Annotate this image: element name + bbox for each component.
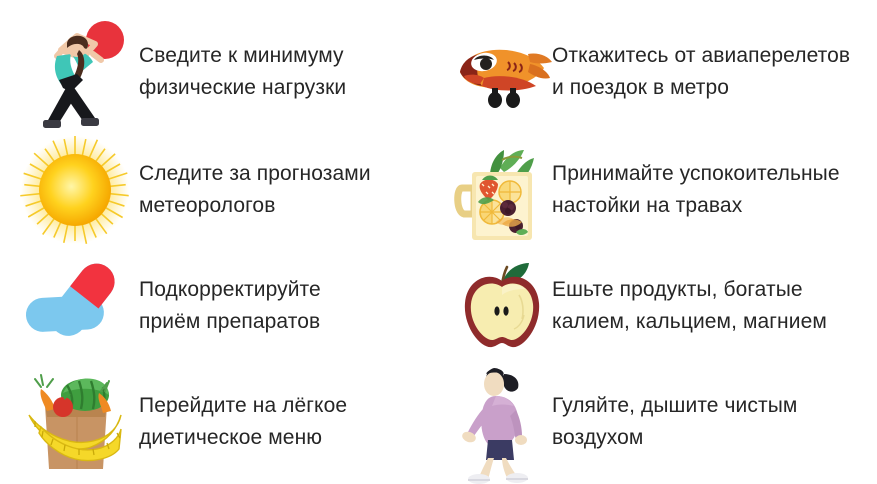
tip-label: Сведите к минимуму физические нагрузки	[139, 40, 346, 104]
woman-exercising-with-ball-icon	[12, 14, 137, 130]
mug-with-herbal-tea-icon	[452, 138, 552, 242]
tip-avoid-air-travel: Откажитесь от авиаперелетов и поездок в …	[440, 14, 877, 130]
tip-watch-weather-forecasts: Следите за прогнозами метеорологов	[0, 132, 440, 248]
tip-label: Подкорректируйте приём препаратов	[139, 274, 321, 338]
tip-reduce-physical-activity: Сведите к минимуму физические нагрузки	[0, 14, 440, 130]
halved-apple-icon	[452, 259, 552, 353]
tip-take-herbal-sedatives: Принимайте успокоительные настойки на тр…	[440, 132, 877, 248]
tip-label: Гуляйте, дышите чистым воздухом	[552, 390, 797, 454]
tip-switch-to-light-diet: Перейдите на лёгкое диетическое меню	[0, 362, 440, 482]
two-capsules-icon	[12, 259, 137, 353]
tip-label: Откажитесь от авиаперелетов и поездок в …	[552, 40, 850, 104]
tip-walk-in-fresh-air: Гуляйте, дышите чистым воздухом	[440, 362, 877, 482]
tip-label: Перейдите на лёгкое диетическое меню	[139, 390, 347, 454]
infographic-board: Сведите к минимуму физические нагрузки	[0, 0, 877, 484]
cartoon-airplane-icon	[452, 34, 552, 110]
walking-woman-icon	[452, 362, 552, 482]
tip-label: Принимайте успокоительные настойки на тр…	[552, 158, 840, 222]
grocery-bag-with-measuring-tape-icon	[12, 371, 137, 473]
tip-label: Следите за прогнозами метеорологов	[139, 158, 371, 222]
tip-label: Ешьте продукты, богатые калием, кальцием…	[552, 274, 827, 338]
sun-icon	[12, 134, 137, 246]
tip-adjust-medication: Подкорректируйте приём препаратов	[0, 250, 440, 362]
tip-eat-potassium-rich-foods: Ешьте продукты, богатые калием, кальцием…	[440, 250, 877, 362]
